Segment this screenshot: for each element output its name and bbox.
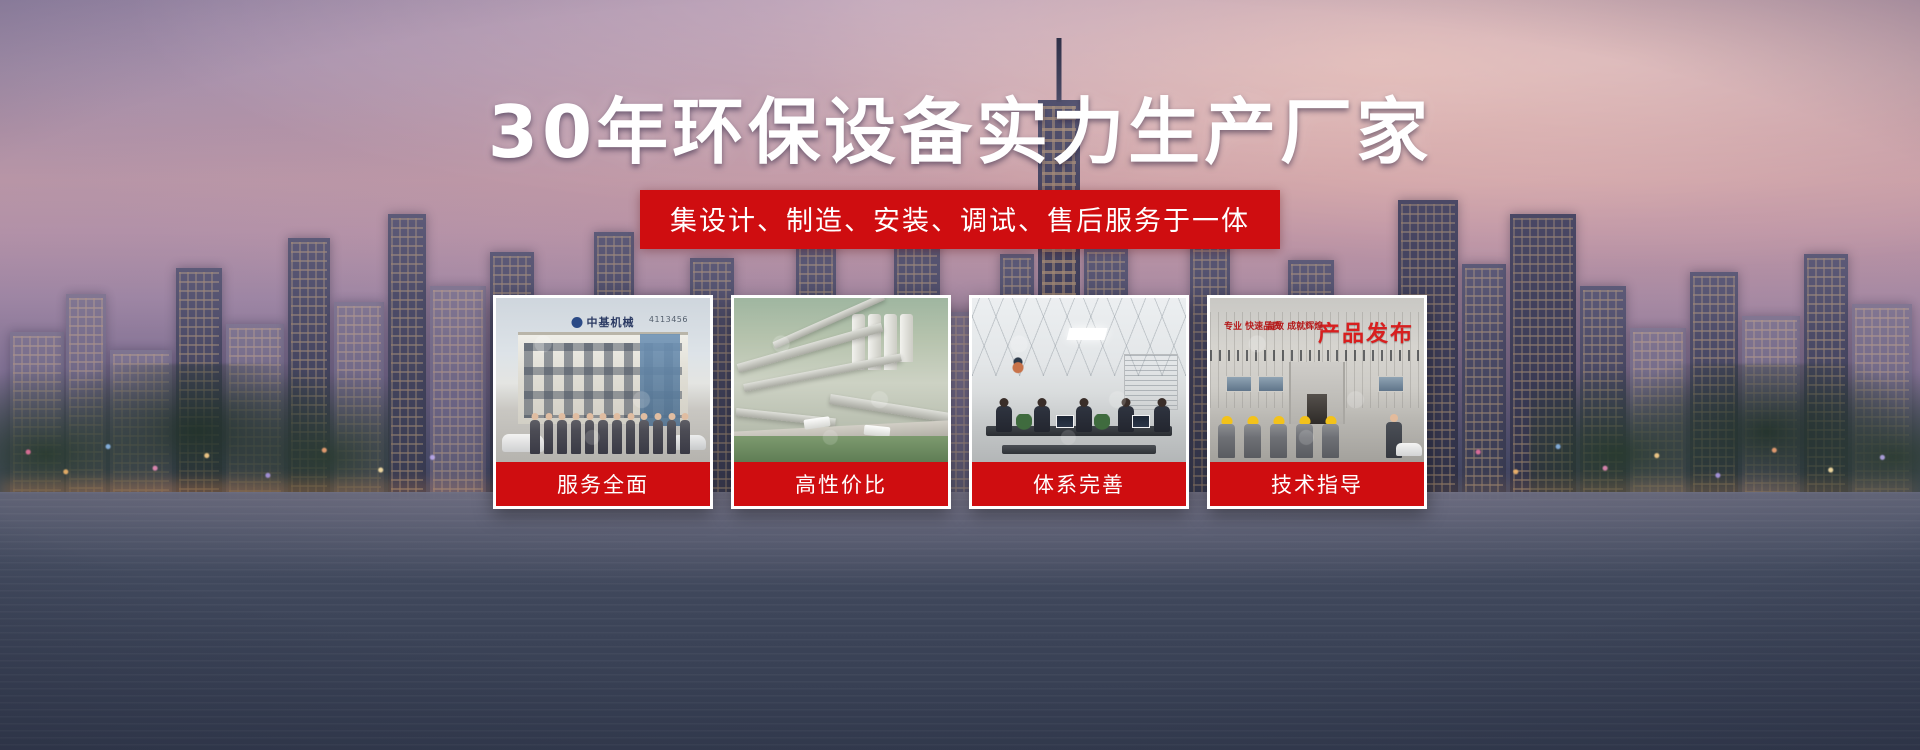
banner-subtitle-bar: 集设计、制造、安装、调试、售后服务于一体 [640, 190, 1280, 249]
card-photo [734, 298, 948, 462]
card-photo: 产品发布 专业 快速品质 高效 成就辉煌 [1210, 298, 1424, 462]
feature-card-list: 中基机械 4113456 服务全面 [493, 295, 1427, 509]
building-plate-number: 4113456 [649, 315, 688, 324]
feature-card[interactable]: 体系完善 [969, 295, 1189, 509]
building-sign-text: 中基机械 [587, 314, 635, 330]
banner-headline: 30年环保设备实力生产厂家 [488, 96, 1432, 168]
factory-slogan-right: 高效 成就辉煌 [1266, 322, 1323, 332]
card-caption: 服务全面 [496, 462, 710, 506]
card-caption: 体系完善 [972, 462, 1186, 506]
card-photo [972, 298, 1186, 462]
factory-wall-headline: 产品发布 [1318, 316, 1414, 348]
card-caption: 高性价比 [734, 462, 948, 506]
card-caption: 技术指导 [1210, 462, 1424, 506]
company-logo-icon [572, 317, 583, 328]
banner-content: 30年环保设备实力生产厂家 集设计、制造、安装、调试、售后服务于一体 中基机械 … [0, 0, 1920, 750]
card-photo: 中基机械 4113456 [496, 298, 710, 462]
hero-banner: 30年环保设备实力生产厂家 集设计、制造、安装、调试、售后服务于一体 中基机械 … [0, 0, 1920, 750]
building-sign: 中基机械 [572, 314, 635, 330]
feature-card[interactable]: 高性价比 [731, 295, 951, 509]
feature-card[interactable]: 中基机械 4113456 服务全面 [493, 295, 713, 509]
feature-card[interactable]: 产品发布 专业 快速品质 高效 成就辉煌 [1207, 295, 1427, 509]
